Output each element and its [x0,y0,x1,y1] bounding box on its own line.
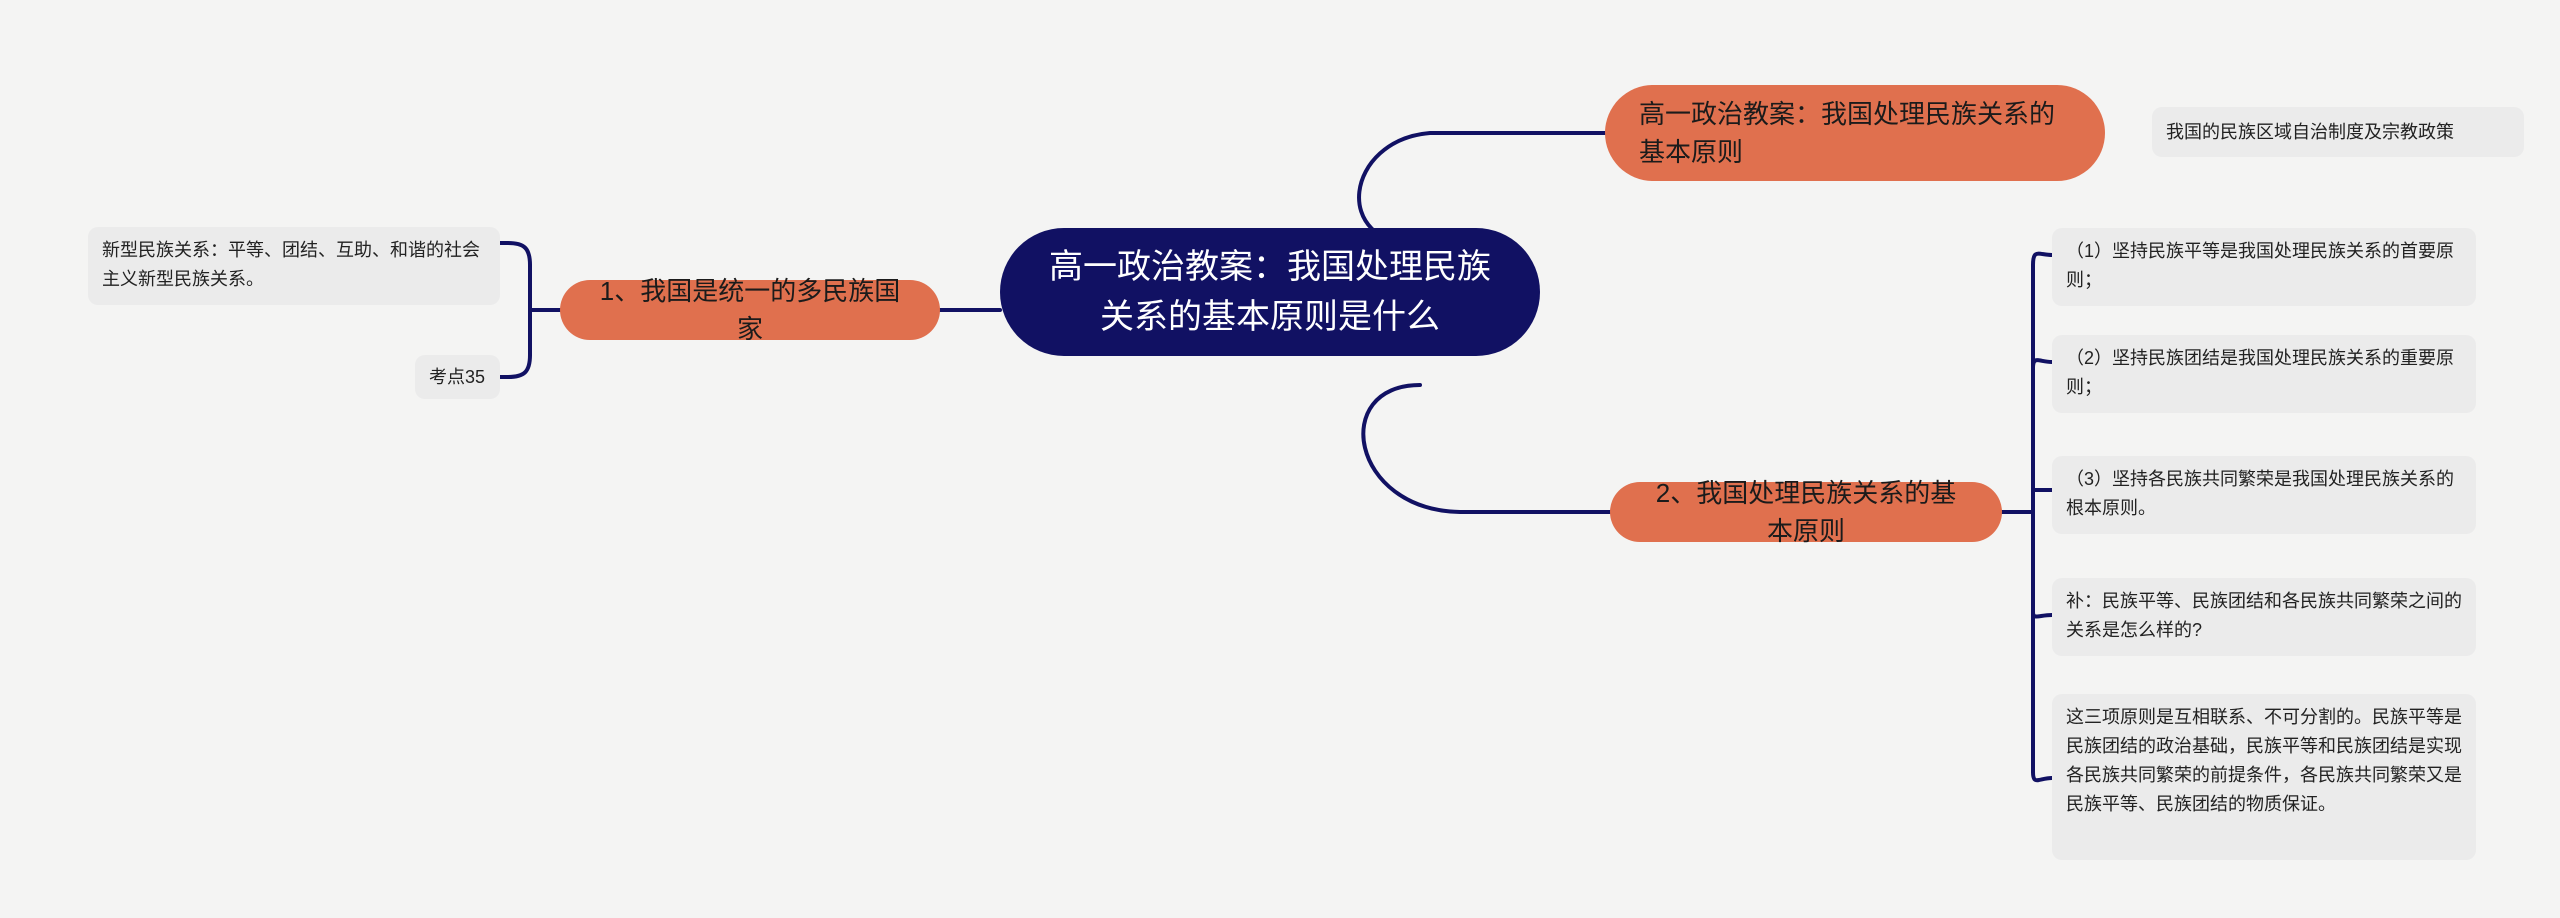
leaf-supplement-answer[interactable]: 这三项原则是互相联系、不可分割的。民族平等是民族团结的政治基础，民族平等和民族团… [2052,694,2476,860]
root-node[interactable]: 高一政治教案：我国处理民族关系的基本原则是什么 [1000,228,1540,356]
branch-node-top-right-label: 高一政治教案：我国处理民族关系的基本原则 [1639,95,2071,171]
leaf-new-ethnic-relations[interactable]: 新型民族关系：平等、团结、互助、和谐的社会主义新型民族关系。 [88,227,500,305]
root-node-label: 高一政治教案：我国处理民族关系的基本原则是什么 [1034,242,1506,342]
mindmap-canvas: 高一政治教案：我国处理民族关系的基本原则是什么 高一政治教案：我国处理民族关系的… [0,0,2560,918]
edge-right-to-leaf-2 [2033,360,2052,368]
leaf-principle-2[interactable]: （2）坚持民族团结是我国处理民族关系的重要原则； [2052,335,2476,413]
branch-node-left[interactable]: 1、我国是统一的多民族国家 [560,280,940,340]
leaf-supplement-answer-label: 这三项原则是互相联系、不可分割的。民族平等是民族团结的政治基础，民族平等和民族团… [2066,703,2462,819]
leaf-religion-policy-label: 我国的民族区域自治制度及宗教政策 [2166,119,2510,145]
branch-node-bottom-right[interactable]: 2、我国处理民族关系的基本原则 [1610,482,2002,542]
leaf-supplement-question[interactable]: 补：民族平等、民族团结和各民族共同繁荣之间的关系是怎么样的? [2052,578,2476,656]
branch-node-left-label: 1、我国是统一的多民族国家 [594,272,906,348]
leaf-principle-3-label: （3）坚持各民族共同繁荣是我国处理民族关系的根本原则。 [2066,465,2462,523]
edge-left-to-leaf-2 [500,355,530,377]
leaf-religion-policy[interactable]: 我国的民族区域自治制度及宗教政策 [2152,107,2524,157]
branch-node-top-right[interactable]: 高一政治教案：我国处理民族关系的基本原则 [1605,85,2105,181]
edge-right-to-leaf-1 [2033,254,2052,265]
leaf-new-ethnic-relations-label: 新型民族关系：平等、团结、互助、和谐的社会主义新型民族关系。 [102,236,486,294]
leaf-principle-1[interactable]: （1）坚持民族平等是我国处理民族关系的首要原则； [2052,228,2476,306]
edge-left-to-leaf-1 [500,243,530,265]
leaf-exam-point-35-label: 考点35 [429,364,486,390]
edge-right-to-leaf-4 [2033,612,2052,617]
leaf-principle-3[interactable]: （3）坚持各民族共同繁荣是我国处理民族关系的根本原则。 [2052,456,2476,534]
branch-node-bottom-right-label: 2、我国处理民族关系的基本原则 [1644,474,1968,550]
edge-root-to-bottom-right [1363,385,1610,512]
edge-right-to-leaf-5 [2033,772,2052,780]
leaf-principle-2-label: （2）坚持民族团结是我国处理民族关系的重要原则； [2066,344,2462,402]
leaf-supplement-question-label: 补：民族平等、民族团结和各民族共同繁荣之间的关系是怎么样的? [2066,587,2462,645]
leaf-exam-point-35[interactable]: 考点35 [415,355,500,399]
leaf-principle-1-label: （1）坚持民族平等是我国处理民族关系的首要原则； [2066,237,2462,295]
